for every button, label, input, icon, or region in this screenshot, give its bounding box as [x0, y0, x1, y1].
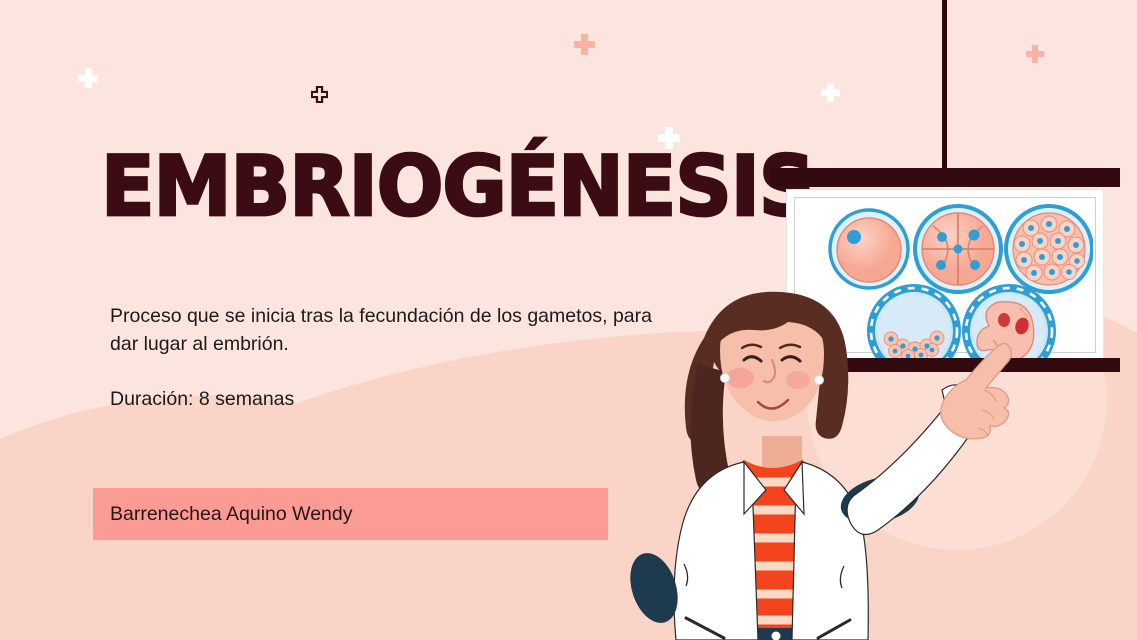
cross-outline-dark-icon: [311, 86, 328, 103]
author-name: Barrenechea Aquino Wendy: [110, 503, 352, 526]
whiteboard-top-bar: [770, 168, 1120, 187]
pointing-hand: [941, 343, 1012, 438]
slide-canvas: EMBRIOGÉNESIS Proceso que se inicia tras…: [0, 0, 1137, 640]
cross-salmon-top-icon: [574, 34, 595, 55]
cheek-left: [726, 368, 754, 388]
page-title: EMBRIOGÉNESIS: [101, 148, 814, 227]
scientist-illustration: [612, 268, 1012, 640]
embryo-stage-morula: [1006, 206, 1092, 292]
cross-white-left-icon: [78, 68, 98, 88]
hanging-rod: [942, 0, 947, 176]
slide-body-text: Proceso que se inicia tras la fecundació…: [110, 303, 680, 414]
body-paragraph-2: Duración: 8 semanas: [110, 386, 680, 414]
cross-salmon-right-icon: [1026, 45, 1044, 63]
author-banner: Barrenechea Aquino Wendy: [93, 488, 608, 540]
earring-left: [721, 374, 730, 383]
earring-right: [815, 376, 824, 385]
body-paragraph-1: Proceso que se inicia tras la fecundació…: [110, 303, 680, 358]
cheek-right: [786, 371, 810, 389]
cross-white-right-icon: [821, 83, 840, 102]
